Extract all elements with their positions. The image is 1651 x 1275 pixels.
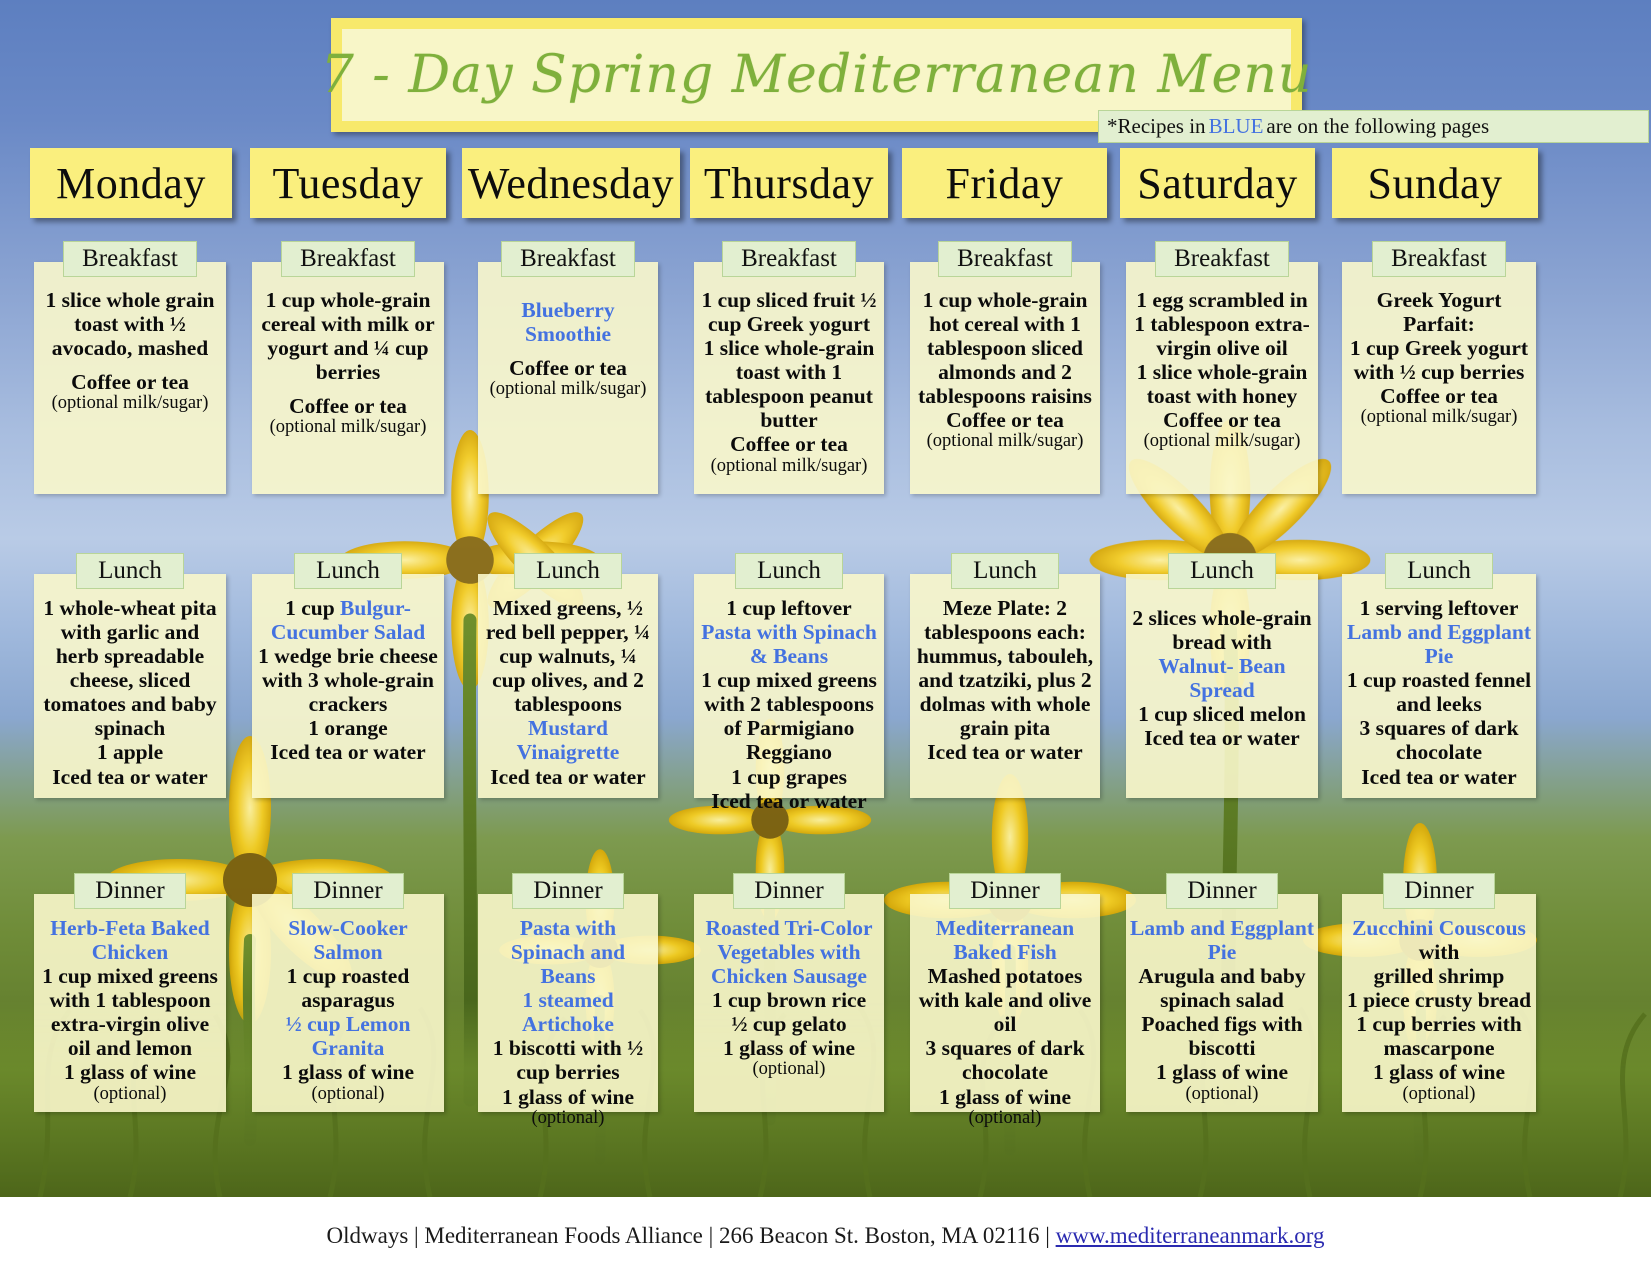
- meal-label-lunch: Lunch: [514, 553, 622, 589]
- meal-card-sunday-lunch: Lunch1 serving leftoverLamb and Eggplant…: [1342, 574, 1536, 798]
- meal-item: 1 glass of wine: [482, 1085, 654, 1109]
- meal-card-wednesday-lunch: LunchMixed greens, ½ red bell pepper, ¼ …: [478, 574, 658, 798]
- meal-item-text: 1 serving leftover: [1360, 596, 1519, 620]
- meal-item: 3 squares of dark chocolate: [914, 1036, 1096, 1084]
- meal-items: 1 cup leftoverPasta with Spinach & Beans…: [694, 574, 884, 819]
- meal-item: 1 slice whole grain toast with ½ avocado…: [38, 288, 222, 360]
- meal-item-text: 1 cup roasted fennel and leeks: [1347, 668, 1531, 716]
- meal-item: Iced tea or water: [914, 740, 1096, 764]
- meal-label-breakfast: Breakfast: [501, 241, 635, 277]
- meal-item: 1 cup berries with mascarpone: [1346, 1012, 1532, 1060]
- meal-card-monday-dinner: DinnerHerb-Feta Baked Chicken1 cup mixed…: [34, 894, 226, 1112]
- meal-item-text: 1 slice whole-grain toast with honey: [1137, 360, 1308, 408]
- day-header-thursday: Thursday: [690, 148, 888, 218]
- meal-items: Pasta with Spinach and Beans1 steamed Ar…: [478, 894, 658, 1134]
- meal-item: 1 slice whole-grain toast with 1 tablesp…: [698, 336, 880, 432]
- meal-items: Greek Yogurt Parfait:1 cup Greek yogurt …: [1342, 262, 1536, 434]
- day-header-label: Wednesday: [468, 158, 674, 209]
- meal-item: 1 egg scrambled in 1 tablespoon extra-vi…: [1130, 288, 1314, 360]
- meal-item-text: Iced tea or water: [52, 765, 207, 789]
- meal-item: Meze Plate: 2 tablespoons each: hummus, …: [914, 596, 1096, 740]
- meal-label-lunch: Lunch: [1168, 553, 1276, 589]
- meal-item: 1 steamed Artichoke: [482, 988, 654, 1036]
- meal-label-breakfast: Breakfast: [722, 241, 856, 277]
- meal-card-monday-lunch: Lunch1 whole-wheat pita with garlic and …: [34, 574, 226, 798]
- day-header-label: Thursday: [704, 158, 874, 209]
- title-panel: 7 - Day Spring Mediterranean Menu: [342, 29, 1291, 121]
- meal-item-text: 1 glass of wine: [64, 1060, 196, 1084]
- meal-item-text: 1 cup grapes: [731, 765, 847, 789]
- meal-item-text: 1 slice whole grain toast with ½ avocado…: [46, 288, 215, 360]
- meal-item: 1 cup sliced fruit ½ cup Greek yogurt: [698, 288, 880, 336]
- meal-items: 1 cup Bulgur-Cucumber Salad1 wedge brie …: [252, 574, 444, 771]
- meal-item: 1 cup mixed greens with 2 tablespoons of…: [698, 668, 880, 764]
- meal-item: Slow-Cooker Salmon: [256, 916, 440, 964]
- recipe-link-text[interactable]: Walnut- Bean Spread: [1158, 654, 1285, 702]
- meal-label-dinner: Dinner: [74, 873, 186, 909]
- meal-items: 1 serving leftoverLamb and Eggplant Pie1…: [1342, 574, 1536, 795]
- meal-item: Iced tea or water: [698, 789, 880, 813]
- meal-item: 1 serving leftover: [1346, 596, 1532, 620]
- meal-item-text: 1 biscotti with ½ cup berries: [493, 1036, 644, 1084]
- meal-item-text: 1 piece crusty bread: [1347, 988, 1531, 1012]
- meal-item: 1 glass of wine: [1130, 1060, 1314, 1084]
- meal-items: Mediterranean Baked FishMashed potatoes …: [910, 894, 1100, 1134]
- meal-item-text: (optional): [969, 1108, 1042, 1128]
- spacer: [482, 346, 654, 356]
- day-header-label: Monday: [56, 158, 206, 209]
- meal-label-lunch: Lunch: [76, 553, 184, 589]
- meal-item-text: Iced tea or water: [1361, 765, 1516, 789]
- meal-label-dinner: Dinner: [949, 873, 1061, 909]
- meal-card-wednesday-dinner: DinnerPasta with Spinach and Beans1 stea…: [478, 894, 658, 1112]
- meal-item: Mediterranean Baked Fish: [914, 916, 1096, 964]
- recipe-link-text[interactable]: Lamb and Eggplant Pie: [1130, 916, 1314, 964]
- meal-item: 1 cup brown rice: [698, 988, 880, 1012]
- footer-org: Oldways: [327, 1223, 409, 1248]
- meal-label-breakfast: Breakfast: [1372, 241, 1506, 277]
- meal-item: 1 cup grapes: [698, 765, 880, 789]
- meal-item-text: 1 glass of wine: [1156, 1060, 1288, 1084]
- meal-items: 1 egg scrambled in 1 tablespoon extra-vi…: [1126, 262, 1318, 458]
- meal-item: ½ cup gelato: [698, 1012, 880, 1036]
- meal-item: (optional): [1346, 1085, 1532, 1104]
- meal-label-dinner: Dinner: [1166, 873, 1278, 909]
- meal-item: 1 cup roasted asparagus: [256, 964, 440, 1012]
- meal-label-dinner: Dinner: [512, 873, 624, 909]
- meal-item: 2 slices whole-grain bread with: [1130, 606, 1314, 654]
- meal-label-breakfast: Breakfast: [938, 241, 1072, 277]
- meal-item: 1 cup mixed greens with 1 tablespoon ext…: [38, 964, 222, 1060]
- meal-item: 1 glass of wine: [698, 1036, 880, 1060]
- meal-item-text: Greek Yogurt Parfait:: [1377, 288, 1502, 336]
- meal-card-monday-breakfast: Breakfast1 slice whole grain toast with …: [34, 262, 226, 494]
- meal-item-text: Coffee or tea: [289, 394, 407, 418]
- meal-item: 1 piece crusty bread: [1346, 988, 1532, 1012]
- meal-item-text: ½ cup gelato: [731, 1012, 846, 1036]
- meal-item-text: Mashed potatoes with kale and olive oil: [919, 964, 1092, 1036]
- meal-item-text: (optional milk/sugar): [52, 393, 209, 413]
- meal-item: Zucchini Couscous with: [1346, 916, 1532, 964]
- day-header-saturday: Saturday: [1120, 148, 1315, 218]
- day-header-wednesday: Wednesday: [462, 148, 680, 218]
- meal-card-sunday-dinner: DinnerZucchini Couscous withgrilled shri…: [1342, 894, 1536, 1112]
- meal-item: Pasta with Spinach and Beans: [482, 916, 654, 988]
- meal-card-friday-lunch: LunchMeze Plate: 2 tablespoons each: hum…: [910, 574, 1100, 798]
- meal-item-text: 1 cup sliced fruit ½ cup Greek yogurt: [702, 288, 877, 336]
- meal-item: grilled shrimp: [1346, 964, 1532, 988]
- meal-card-thursday-lunch: Lunch1 cup leftoverPasta with Spinach & …: [694, 574, 884, 798]
- day-header-friday: Friday: [902, 148, 1107, 218]
- meal-item-text: 1 glass of wine: [723, 1036, 855, 1060]
- meal-label-breakfast: Breakfast: [281, 241, 415, 277]
- meal-item: Lamb and Eggplant Pie: [1346, 620, 1532, 668]
- meal-item-text: (optional milk/sugar): [711, 456, 868, 476]
- meal-label-breakfast: Breakfast: [1155, 241, 1289, 277]
- meal-item: (optional): [914, 1109, 1096, 1128]
- meal-item: 1 glass of wine: [1346, 1060, 1532, 1084]
- meal-item-text: 3 squares of dark chocolate: [1359, 716, 1518, 764]
- spacer: [482, 288, 654, 298]
- recipe-link-text[interactable]: Pasta with Spinach and Beans: [511, 916, 625, 988]
- meal-item: Coffee or tea: [1130, 408, 1314, 432]
- meal-item: Coffee or tea: [256, 394, 440, 418]
- day-header-label: Tuesday: [272, 158, 423, 209]
- meal-item-text: 1 egg scrambled in 1 tablespoon extra-vi…: [1134, 288, 1310, 360]
- meal-item: Herb-Feta Baked Chicken: [38, 916, 222, 964]
- meal-items: Mixed greens, ½ red bell pepper, ¼ cup w…: [478, 574, 658, 795]
- day-header-label: Saturday: [1137, 158, 1297, 209]
- spacer: [38, 360, 222, 370]
- meal-item-text: 1 cup mixed greens with 1 tablespoon ext…: [42, 964, 218, 1060]
- meal-item-text: 2 slices whole-grain bread with: [1132, 606, 1311, 654]
- meal-items: 1 cup whole-grain cereal with milk or yo…: [252, 262, 444, 444]
- day-header-monday: Monday: [30, 148, 232, 218]
- meal-item-text: Coffee or tea: [730, 432, 848, 456]
- meal-item: (optional): [38, 1085, 222, 1104]
- meal-item: 1 glass of wine: [914, 1085, 1096, 1109]
- meal-item: Mashed potatoes with kale and olive oil: [914, 964, 1096, 1036]
- meal-item-text: (optional milk/sugar): [1361, 407, 1518, 427]
- spacer: [256, 384, 440, 394]
- recipes-legend-highlight: BLUE: [1206, 114, 1267, 139]
- meal-item: 1 cup whole-grain hot cereal with 1 tabl…: [914, 288, 1096, 408]
- meal-item: Blueberry Smoothie: [482, 298, 654, 346]
- day-header-label: Friday: [946, 158, 1064, 209]
- meal-label-lunch: Lunch: [1385, 553, 1493, 589]
- meal-item-text: Iced tea or water: [270, 740, 425, 764]
- recipe-link-text[interactable]: 1 steamed Artichoke: [522, 988, 614, 1036]
- meal-item: 1 cup leftover: [698, 596, 880, 620]
- meal-item-text: Iced tea or water: [927, 740, 1082, 764]
- meal-item: 1 whole-wheat pita with garlic and herb …: [38, 596, 222, 740]
- meal-item-text: Coffee or tea: [1380, 384, 1498, 408]
- meal-item-text: Iced tea or water: [1144, 726, 1299, 750]
- meal-card-thursday-breakfast: Breakfast1 cup sliced fruit ½ cup Greek …: [694, 262, 884, 494]
- meal-item: 3 squares of dark chocolate: [1346, 716, 1532, 764]
- day-header-tuesday: Tuesday: [250, 148, 446, 218]
- meal-items: 1 whole-wheat pita with garlic and herb …: [34, 574, 226, 795]
- meal-item-text: 1 cup berries with mascarpone: [1356, 1012, 1521, 1060]
- meal-items: 1 slice whole grain toast with ½ avocado…: [34, 262, 226, 420]
- meal-item: Coffee or tea: [914, 408, 1096, 432]
- meal-item-text: grilled shrimp: [1374, 964, 1505, 988]
- meal-item: 1 biscotti with ½ cup berries: [482, 1036, 654, 1084]
- meal-card-thursday-dinner: DinnerRoasted Tri-Color Vegetables with …: [694, 894, 884, 1112]
- meal-item-text: 1 glass of wine: [282, 1060, 414, 1084]
- meal-item: (optional milk/sugar): [698, 457, 880, 476]
- meal-item: 1 apple: [38, 740, 222, 764]
- meal-item-text: Iced tea or water: [711, 789, 866, 813]
- meal-items: Zucchini Couscous withgrilled shrimp1 pi…: [1342, 894, 1536, 1110]
- meal-item-text: (optional milk/sugar): [270, 417, 427, 437]
- meal-label-breakfast: Breakfast: [63, 241, 197, 277]
- meal-item-text: (optional): [1403, 1084, 1476, 1104]
- meal-card-saturday-dinner: DinnerLamb and Eggplant PieArugula and b…: [1126, 894, 1318, 1112]
- meal-item: Coffee or tea: [698, 432, 880, 456]
- recipe-link-text[interactable]: Slow-Cooker Salmon: [288, 916, 407, 964]
- meal-item-text: 1 cup roasted asparagus: [287, 964, 410, 1012]
- meal-item: Greek Yogurt Parfait:: [1346, 288, 1532, 336]
- meal-label-dinner: Dinner: [1383, 873, 1495, 909]
- meal-card-tuesday-lunch: Lunch1 cup Bulgur-Cucumber Salad1 wedge …: [252, 574, 444, 798]
- meal-item-text: 1 apple: [97, 740, 163, 764]
- meal-card-saturday-breakfast: Breakfast1 egg scrambled in 1 tablespoon…: [1126, 262, 1318, 494]
- meal-item: 1 glass of wine: [38, 1060, 222, 1084]
- recipes-legend-suffix: are on the following pages: [1266, 114, 1489, 139]
- meal-item: Iced tea or water: [256, 740, 440, 764]
- meal-item-text: (optional): [753, 1059, 826, 1079]
- meal-item-text: 1 cup leftover: [726, 596, 851, 620]
- meal-item: (optional milk/sugar): [38, 394, 222, 413]
- footer-sep-1: |: [408, 1223, 424, 1248]
- meal-item-text: (optional): [312, 1084, 385, 1104]
- meal-item: 1 cup Greek yogurt with ½ cup berries: [1346, 336, 1532, 384]
- meal-item-text: Coffee or tea: [1163, 408, 1281, 432]
- meal-item: Mustard Vinaigrette: [482, 716, 654, 764]
- meal-items: 1 cup sliced fruit ½ cup Greek yogurt1 s…: [694, 262, 884, 482]
- meal-item: ½ cup Lemon Granita: [256, 1012, 440, 1060]
- meal-items: Roasted Tri-Color Vegetables with Chicke…: [694, 894, 884, 1086]
- meal-items: Lamb and Eggplant PieArugula and baby sp…: [1126, 894, 1318, 1110]
- meal-item: 1 orange: [256, 716, 440, 740]
- meal-item-text: Arugula and baby spinach salad: [1138, 964, 1305, 1012]
- recipe-link-text[interactable]: Mediterranean Baked Fish: [936, 916, 1075, 964]
- meal-item-text: (optional milk/sugar): [1144, 431, 1301, 451]
- meal-item-text: 1 wedge brie cheese with 3 whole-grain c…: [258, 644, 438, 716]
- meal-item: 1 wedge brie cheese with 3 whole-grain c…: [256, 644, 440, 716]
- meal-item-text: 1 cup mixed greens with 2 tablespoons of…: [701, 668, 877, 764]
- meal-item: 1 slice whole-grain toast with honey: [1130, 360, 1314, 408]
- recipe-link-text[interactable]: ½ cup Lemon Granita: [286, 1012, 411, 1060]
- meal-label-lunch: Lunch: [294, 553, 402, 589]
- meal-item-text: (optional): [1186, 1084, 1259, 1104]
- meal-item-text: 1 orange: [308, 716, 387, 740]
- meal-label-dinner: Dinner: [292, 873, 404, 909]
- recipe-link-text[interactable]: Roasted Tri-Color Vegetables with Chicke…: [705, 916, 872, 988]
- meal-item-text: 1 cup whole-grain cereal with milk or yo…: [261, 288, 434, 384]
- meal-item-text: 1 cup whole-grain hot cereal with 1 tabl…: [918, 288, 1092, 408]
- meal-item: (optional milk/sugar): [914, 432, 1096, 451]
- meal-items: 1 cup whole-grain hot cereal with 1 tabl…: [910, 262, 1100, 458]
- meal-label-lunch: Lunch: [951, 553, 1059, 589]
- meal-item: (optional milk/sugar): [482, 380, 654, 399]
- meal-items: Meze Plate: 2 tablespoons each: hummus, …: [910, 574, 1100, 771]
- recipe-link-text[interactable]: Mustard Vinaigrette: [517, 716, 620, 764]
- meal-item: Iced tea or water: [1346, 765, 1532, 789]
- meal-card-sunday-breakfast: BreakfastGreek Yogurt Parfait:1 cup Gree…: [1342, 262, 1536, 494]
- recipe-link-text[interactable]: Lamb and Eggplant Pie: [1347, 620, 1531, 668]
- meal-item: 1 cup roasted fennel and leeks: [1346, 668, 1532, 716]
- menu-page: 7 - Day Spring Mediterranean Menu *Recip…: [0, 0, 1651, 1275]
- meal-item: (optional milk/sugar): [1346, 408, 1532, 427]
- meal-item-text: Poached figs with biscotti: [1141, 1012, 1302, 1060]
- meal-card-tuesday-breakfast: Breakfast1 cup whole-grain cereal with m…: [252, 262, 444, 494]
- footer-address: 266 Beacon St. Boston, MA 02116: [719, 1223, 1040, 1248]
- spacer: [1130, 596, 1314, 606]
- meal-item-text: 1 cup Greek yogurt with ½ cup berries: [1350, 336, 1528, 384]
- meal-item-text: 1 slice whole-grain toast with 1 tablesp…: [704, 336, 875, 432]
- meal-item-text: 3 squares of dark chocolate: [925, 1036, 1084, 1084]
- meal-item: Arugula and baby spinach salad: [1130, 964, 1314, 1012]
- footer-sep-3: |: [1040, 1223, 1056, 1248]
- meal-card-friday-dinner: DinnerMediterranean Baked FishMashed pot…: [910, 894, 1100, 1112]
- meal-item: Iced tea or water: [482, 765, 654, 789]
- meal-item-text: Meze Plate: 2 tablespoons each: hummus, …: [917, 596, 1093, 740]
- meal-card-wednesday-breakfast: BreakfastBlueberry SmoothieCoffee or tea…: [478, 262, 658, 494]
- meal-item-text: (optional milk/sugar): [927, 431, 1084, 451]
- meal-item: (optional milk/sugar): [1130, 432, 1314, 451]
- meal-item: (optional): [482, 1109, 654, 1128]
- meal-item-text: (optional): [532, 1108, 605, 1128]
- meal-item: Poached figs with biscotti: [1130, 1012, 1314, 1060]
- meal-item-text: Iced tea or water: [490, 765, 645, 789]
- meal-item: Iced tea or water: [1130, 726, 1314, 750]
- meal-card-saturday-lunch: Lunch2 slices whole-grain bread withWaln…: [1126, 574, 1318, 798]
- meal-item: 1 glass of wine: [256, 1060, 440, 1084]
- day-header-label: Sunday: [1368, 158, 1503, 209]
- meal-item: Coffee or tea: [482, 356, 654, 380]
- meal-label-lunch: Lunch: [735, 553, 843, 589]
- footer-text: Oldways | Mediterranean Foods Alliance |…: [327, 1223, 1325, 1249]
- meal-items: 2 slices whole-grain bread withWalnut- B…: [1126, 574, 1318, 756]
- recipe-link-text[interactable]: Blueberry Smoothie: [521, 298, 614, 346]
- meal-item: Mixed greens, ½ red bell pepper, ¼ cup w…: [482, 596, 654, 716]
- footer: Oldways | Mediterranean Foods Alliance |…: [0, 1197, 1651, 1275]
- meal-item-text: (optional): [94, 1084, 167, 1104]
- day-header-sunday: Sunday: [1332, 148, 1538, 218]
- meal-item-text: 1 glass of wine: [939, 1085, 1071, 1109]
- page-title: 7 - Day Spring Mediterranean Menu: [321, 45, 1313, 105]
- meal-item: Coffee or tea: [38, 370, 222, 394]
- meal-item: (optional): [698, 1060, 880, 1079]
- meal-item-text: Coffee or tea: [946, 408, 1064, 432]
- footer-alliance: Mediterranean Foods Alliance: [424, 1223, 702, 1248]
- meal-item: 1 cup sliced melon: [1130, 702, 1314, 726]
- meal-items: Blueberry SmoothieCoffee or tea(optional…: [478, 262, 658, 406]
- meal-item-text: 1 whole-wheat pita with garlic and herb …: [43, 596, 216, 740]
- meal-item-text: Coffee or tea: [71, 370, 189, 394]
- recipe-link-text[interactable]: Herb-Feta Baked Chicken: [50, 916, 209, 964]
- meal-item-text: (optional milk/sugar): [490, 379, 647, 399]
- meal-item: Roasted Tri-Color Vegetables with Chicke…: [698, 916, 880, 988]
- meal-item-text: Mixed greens, ½ red bell pepper, ¼ cup w…: [486, 596, 650, 716]
- meal-card-friday-breakfast: Breakfast1 cup whole-grain hot cereal wi…: [910, 262, 1100, 494]
- meal-item: 1 cup whole-grain cereal with milk or yo…: [256, 288, 440, 384]
- meal-item-text: Coffee or tea: [509, 356, 627, 380]
- meal-item-text: with: [1419, 940, 1460, 964]
- meal-items: Herb-Feta Baked Chicken1 cup mixed green…: [34, 894, 226, 1110]
- meal-item: (optional): [1130, 1085, 1314, 1104]
- recipe-link-text[interactable]: Zucchini Couscous: [1352, 916, 1526, 940]
- meal-item: 1 cup Bulgur-Cucumber Salad: [256, 596, 440, 644]
- meal-item-text: 1 glass of wine: [1373, 1060, 1505, 1084]
- meal-item: Iced tea or water: [38, 765, 222, 789]
- meal-item: (optional): [256, 1085, 440, 1104]
- meal-item: Lamb and Eggplant Pie: [1130, 916, 1314, 964]
- recipes-legend-prefix: *Recipes in: [1107, 114, 1206, 139]
- meal-item-text: 1 glass of wine: [502, 1085, 634, 1109]
- meal-item: (optional milk/sugar): [256, 418, 440, 437]
- meal-item: Walnut- Bean Spread: [1130, 654, 1314, 702]
- meal-item-text: 1 cup brown rice: [712, 988, 866, 1012]
- meal-items: Slow-Cooker Salmon1 cup roasted asparagu…: [252, 894, 444, 1110]
- recipe-link-text[interactable]: Pasta with Spinach & Beans: [701, 620, 877, 668]
- meal-item-text: 1 cup: [285, 596, 340, 620]
- footer-website-link[interactable]: www.mediterraneanmark.org: [1056, 1223, 1325, 1248]
- recipes-legend: *Recipes in BLUE are on the following pa…: [1098, 110, 1649, 143]
- footer-sep-2: |: [703, 1223, 719, 1248]
- meal-item: Pasta with Spinach & Beans: [698, 620, 880, 668]
- meal-item-text: 1 cup sliced melon: [1138, 702, 1306, 726]
- meal-label-dinner: Dinner: [733, 873, 845, 909]
- meal-card-tuesday-dinner: DinnerSlow-Cooker Salmon1 cup roasted as…: [252, 894, 444, 1112]
- meal-item: Coffee or tea: [1346, 384, 1532, 408]
